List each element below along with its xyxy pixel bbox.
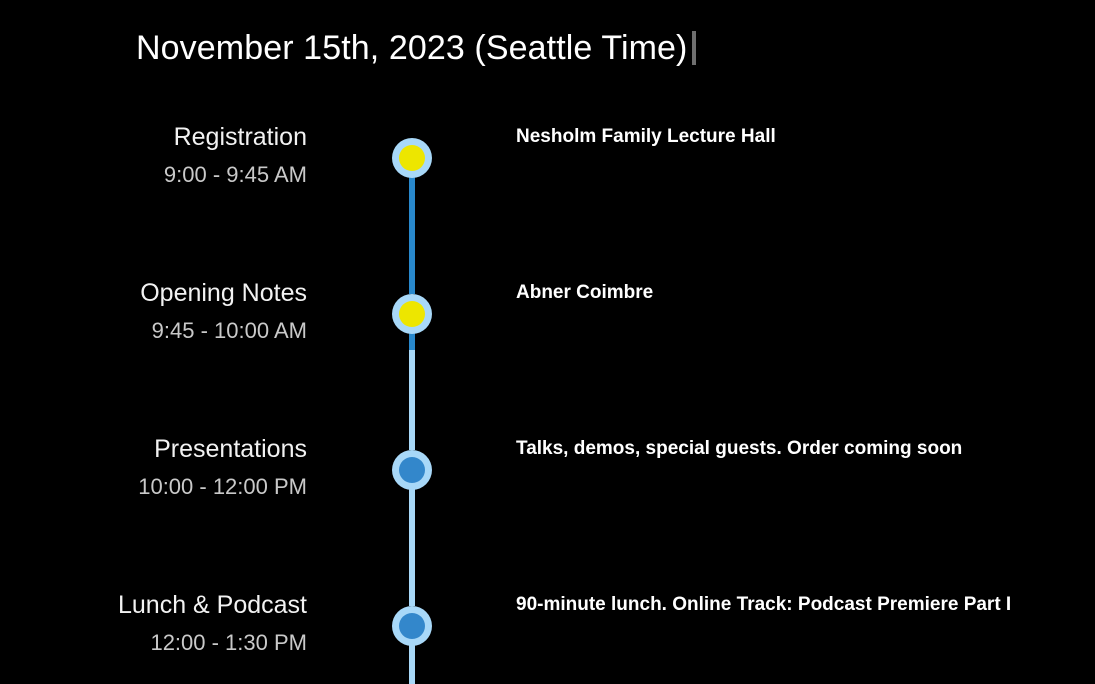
timeline-marker-dot xyxy=(399,145,425,171)
timeline-marker-dot xyxy=(399,457,425,483)
event-time: 9:00 - 9:45 AM xyxy=(0,156,307,194)
event-name: Lunch & Podcast xyxy=(0,586,307,624)
page-title: November 15th, 2023 (Seattle Time) xyxy=(136,24,696,72)
timeline-marker-presentations[interactable] xyxy=(392,450,432,490)
event-description: Abner Coimbre xyxy=(516,274,1095,312)
timeline-left-column: Registration 9:00 - 9:45 AM xyxy=(0,118,307,194)
page-title-text: November 15th, 2023 (Seattle Time) xyxy=(136,24,687,72)
timeline-row[interactable]: Registration 9:00 - 9:45 AM Nesholm Fami… xyxy=(0,118,1095,274)
event-description: Talks, demos, special guests. Order comi… xyxy=(516,430,1095,468)
event-time: 12:00 - 1:30 PM xyxy=(0,624,307,662)
event-name: Presentations xyxy=(0,430,307,468)
timeline-marker-opening-notes[interactable] xyxy=(392,294,432,334)
timeline-right-column: 90-minute lunch. Online Track: Podcast P… xyxy=(516,586,1095,624)
timeline-right-column: Talks, demos, special guests. Order comi… xyxy=(516,430,1095,468)
schedule-page: November 15th, 2023 (Seattle Time) Regis… xyxy=(0,0,1095,684)
schedule-timeline: Registration 9:00 - 9:45 AM Nesholm Fami… xyxy=(0,118,1095,684)
event-name: Opening Notes xyxy=(0,274,307,312)
timeline-left-column: Opening Notes 9:45 - 10:00 AM xyxy=(0,274,307,350)
timeline-connector-below-pending xyxy=(409,350,415,430)
timeline-marker-lunch-podcast[interactable] xyxy=(392,606,432,646)
timeline-row[interactable]: Presentations 10:00 - 12:00 PM Talks, de… xyxy=(0,430,1095,586)
timeline-row[interactable]: Opening Notes 9:45 - 10:00 AM Abner Coim… xyxy=(0,274,1095,430)
event-time: 9:45 - 10:00 AM xyxy=(0,312,307,350)
event-time: 10:00 - 12:00 PM xyxy=(0,468,307,506)
timeline-connector-above xyxy=(409,586,415,606)
text-caret xyxy=(692,31,696,65)
timeline-marker-registration[interactable] xyxy=(392,138,432,178)
timeline-connector-above xyxy=(409,274,415,294)
timeline-right-column: Nesholm Family Lecture Hall xyxy=(516,118,1095,156)
event-description: Nesholm Family Lecture Hall xyxy=(516,118,1095,156)
timeline-connector-above xyxy=(409,430,415,450)
timeline-marker-dot xyxy=(399,301,425,327)
event-description: 90-minute lunch. Online Track: Podcast P… xyxy=(516,586,1095,624)
timeline-left-column: Presentations 10:00 - 12:00 PM xyxy=(0,430,307,506)
timeline-row[interactable]: Lunch & Podcast 12:00 - 1:30 PM 90-minut… xyxy=(0,586,1095,684)
timeline-marker-dot xyxy=(399,613,425,639)
timeline-left-column: Lunch & Podcast 12:00 - 1:30 PM xyxy=(0,586,307,662)
event-name: Registration xyxy=(0,118,307,156)
timeline-right-column: Abner Coimbre xyxy=(516,274,1095,312)
